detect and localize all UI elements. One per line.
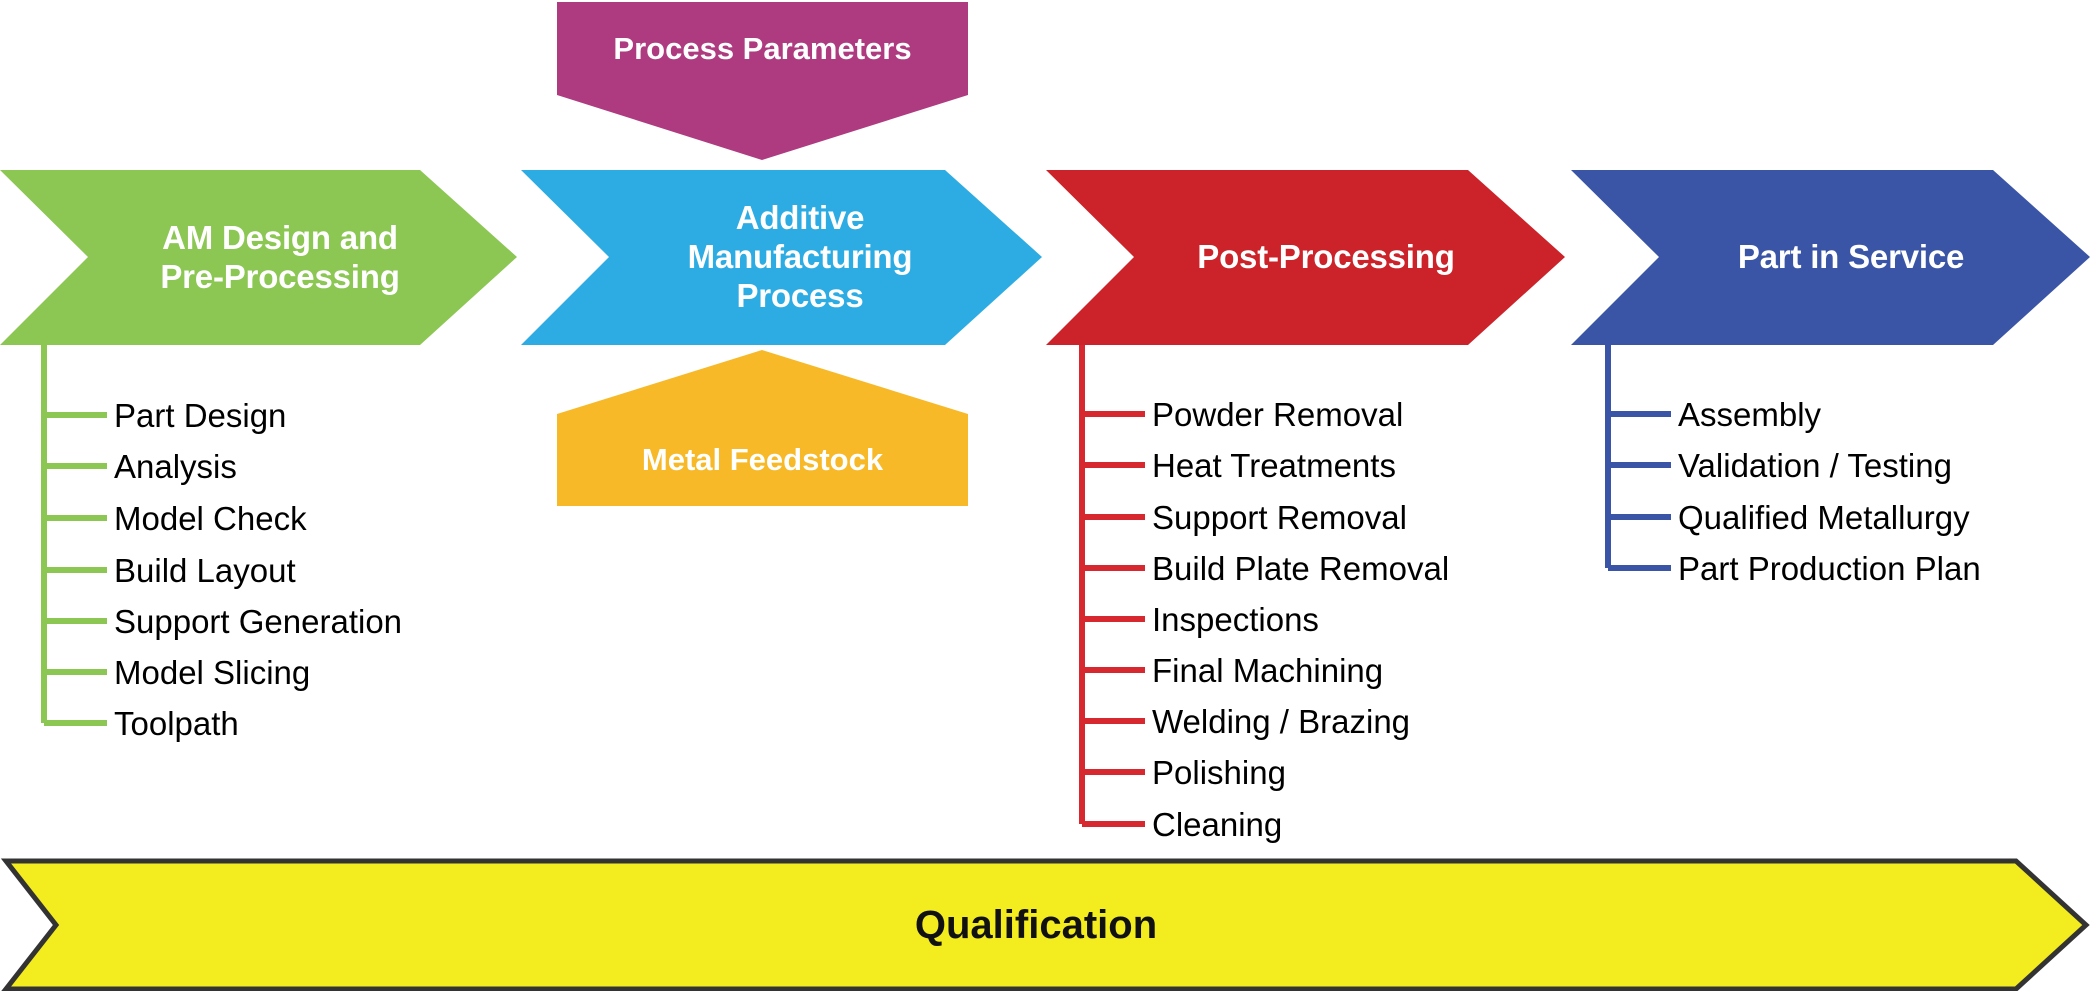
list-item[interactable]: Part Production Plan: [1678, 552, 1981, 585]
list-item[interactable]: Qualified Metallurgy: [1678, 501, 1970, 534]
sublist-part-in-service: Assembly Validation / Testing Qualified …: [0, 0, 2092, 991]
list-item[interactable]: Validation / Testing: [1678, 449, 1952, 482]
diagram-canvas: Process Parameters Metal Feedstock AM De…: [0, 0, 2092, 991]
list-item[interactable]: Assembly: [1678, 398, 1821, 431]
